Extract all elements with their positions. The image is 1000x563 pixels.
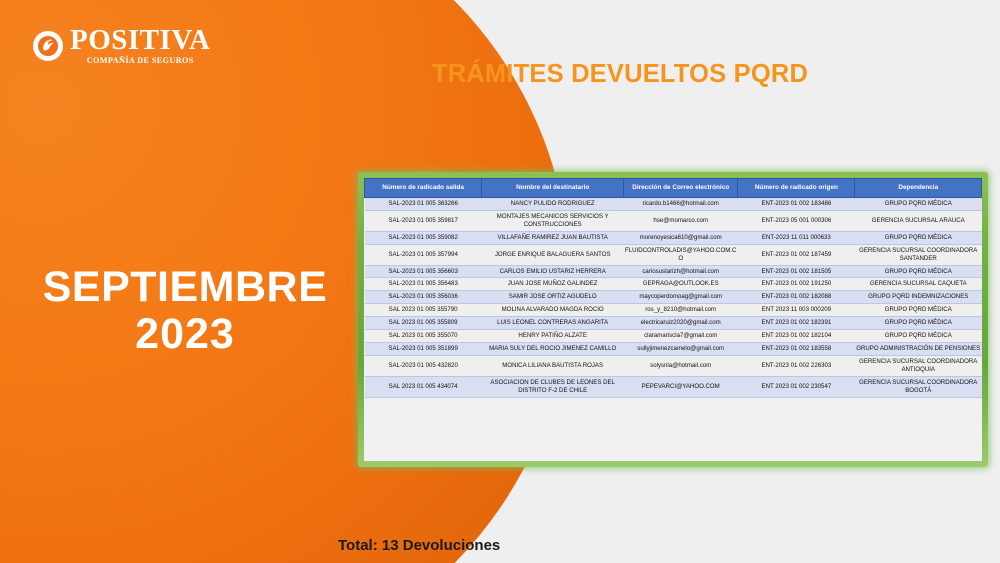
cell-destinatario: JUAN JOSE MUÑOZ GALINDEZ bbox=[482, 278, 624, 291]
logo-subtitle: COMPAÑÍA DE SEGUROS bbox=[70, 57, 210, 65]
slide-canvas: POSITIVA COMPAÑÍA DE SEGUROS SEPTIEMBRE … bbox=[0, 0, 1000, 563]
total-bar: Total: 13 Devoluciones bbox=[320, 532, 620, 558]
cell-dependencia: GRUPO PQRD MÉDICA bbox=[855, 265, 982, 278]
cell-correo: claramariscla7@gmail.com bbox=[624, 330, 738, 343]
table-row: SAL-2023 01 005 351899MARIA SULY DEL ROC… bbox=[365, 343, 982, 356]
cell-dependencia: GRUPO PQRD MÉDICA bbox=[855, 317, 982, 330]
cell-correo: PEPEVARCI@YAHOO.COM bbox=[624, 376, 738, 397]
column-header-radicado-origen: Número de radicado origen bbox=[738, 179, 855, 198]
cell-correo: sullyjimenezcamelo@gmail.com bbox=[624, 343, 738, 356]
period-block: SEPTIEMBRE 2023 bbox=[0, 265, 370, 360]
cell-radicado-salida: SAL-2023 01 005 356036 bbox=[365, 291, 482, 304]
cell-destinatario: SAMIR JOSE ORTIZ AGUDELO bbox=[482, 291, 624, 304]
cell-destinatario: CARLOS EMILIO USTARIZ HERRERA bbox=[482, 265, 624, 278]
table-row: SAL-2023 01 005 357994JORGE ENRIQUE BALA… bbox=[365, 244, 982, 265]
column-header-radicado-salida: Número de radicado salida bbox=[365, 179, 482, 198]
column-header-dependencia: Dependencia bbox=[855, 179, 982, 198]
cell-radicado-origen: ENT-2023 01 002 226303 bbox=[738, 355, 855, 376]
cell-correo: ros_y_8210@hotmail.com bbox=[624, 304, 738, 317]
logo-wordmark: POSITIVA COMPAÑÍA DE SEGUROS bbox=[70, 26, 210, 65]
column-header-correo: Dirección de Correo electrónico bbox=[624, 179, 738, 198]
positiva-logo: POSITIVA COMPAÑÍA DE SEGUROS bbox=[33, 26, 210, 65]
cell-radicado-origen: ENT-2023 01 002 183486 bbox=[738, 198, 855, 211]
table-row: SAL 2023 01 005 355070HENRY PATIÑO ALZAT… bbox=[365, 330, 982, 343]
returned-procedures-table: Número de radicado salida Nombre del des… bbox=[364, 178, 982, 398]
table-row: SAL-2023 01 005 356036SAMIR JOSE ORTIZ A… bbox=[365, 291, 982, 304]
table-header: Número de radicado salida Nombre del des… bbox=[365, 179, 982, 198]
cell-radicado-origen: ENT-2023 01 002 183558 bbox=[738, 343, 855, 356]
table-row: SAL 2023 01 005 434074ASOCIACION DE CLUB… bbox=[365, 376, 982, 397]
cell-radicado-salida: SAL-2023 01 005 359082 bbox=[365, 231, 482, 244]
cell-dependencia: GERENCIA SUCURSAL CAQUETA bbox=[855, 278, 982, 291]
cell-radicado-origen: ENT-2023 01 002 182088 bbox=[738, 291, 855, 304]
cell-radicado-origen: ENT 2023 11 003 000209 bbox=[738, 304, 855, 317]
cell-correo: maycoperdomoag@gmail.com bbox=[624, 291, 738, 304]
cell-radicado-origen: ENT 2023 01 002 182104 bbox=[738, 330, 855, 343]
cell-radicado-origen: ENT 2023 01 002 230547 bbox=[738, 376, 855, 397]
cell-radicado-salida: SAL-2023 01 005 432820 bbox=[365, 355, 482, 376]
cell-radicado-origen: ENT-2023 11 011 000633 bbox=[738, 231, 855, 244]
page-title: TRÁMITES DEVUELTOS PQRD bbox=[420, 60, 820, 89]
cell-dependencia: GERENCIA SUCURSAL COORDINADORA SANTANDER bbox=[855, 244, 982, 265]
column-header-destinatario: Nombre del destinatario bbox=[482, 179, 624, 198]
cell-radicado-salida: SAL 2023 01 005 355809 bbox=[365, 317, 482, 330]
cell-radicado-salida: SAL 2023 01 005 355790 bbox=[365, 304, 482, 317]
cell-correo: FLUIDCONTROLADIS@YAHOO.COM.CO bbox=[624, 244, 738, 265]
cell-radicado-salida: SAL 2023 01 005 355070 bbox=[365, 330, 482, 343]
cell-radicado-origen: ENT-2023 01 002 191250 bbox=[738, 278, 855, 291]
cell-radicado-salida: SAL-2023 01 005 356483 bbox=[365, 278, 482, 291]
globe-icon bbox=[33, 31, 63, 61]
cell-destinatario: ASOCIACION DE CLUBES DE LEONES DEL DISTR… bbox=[482, 376, 624, 397]
cell-radicado-origen: ENT 2023 01 002 182391 bbox=[738, 317, 855, 330]
table-row: SAL 2023 01 005 355790MOLINA ALVARADO MA… bbox=[365, 304, 982, 317]
table-body: SAL-2023 01 005 363266NANCY PULIDO RODRI… bbox=[365, 198, 982, 398]
cell-destinatario: HENRY PATIÑO ALZATE bbox=[482, 330, 624, 343]
table-row: SAL-2023 01 005 363266NANCY PULIDO RODRI… bbox=[365, 198, 982, 211]
table-row: SAL-2023 01 005 356603CARLOS EMILIO USTA… bbox=[365, 265, 982, 278]
period-year: 2023 bbox=[0, 310, 370, 359]
cell-dependencia: GERENCIA SUCURSAL COORDINADORA BOGOTÁ bbox=[855, 376, 982, 397]
cell-dependencia: GRUPO ADMINISTRACIÓN DE PENSIONES bbox=[855, 343, 982, 356]
table-row: SAL-2023 01 005 359082VILLAFAÑE RAMIREZ … bbox=[365, 231, 982, 244]
cell-dependencia: GRUPO PQRD MÉDICA bbox=[855, 198, 982, 211]
cell-radicado-origen: ENT-2023 01 002 187459 bbox=[738, 244, 855, 265]
table-header-row: Número de radicado salida Nombre del des… bbox=[365, 179, 982, 198]
cell-destinatario: NANCY PULIDO RODRIGUEZ bbox=[482, 198, 624, 211]
cell-correo: electricaruiz2020@gmail.com bbox=[624, 317, 738, 330]
cell-dependencia: GRUPO PQRD INDEMNIZACIONES bbox=[855, 291, 982, 304]
cell-dependencia: GRUPO PQRD MÉDICA bbox=[855, 304, 982, 317]
cell-destinatario: MOLINA ALVARADO MAGDA ROCIO bbox=[482, 304, 624, 317]
cell-destinatario: JORGE ENRIQUE BALAGUERA SANTOS bbox=[482, 244, 624, 265]
cell-dependencia: GRUPO PQRD MÉDICA bbox=[855, 231, 982, 244]
cell-radicado-salida: SAL 2023 01 005 434074 bbox=[365, 376, 482, 397]
cell-correo: carlosustarizh@hotmail.com bbox=[624, 265, 738, 278]
cell-dependencia: GRUPO PQRD MÉDICA bbox=[855, 330, 982, 343]
table-row: SAL 2023 01 005 355809LUIS LEONEL CONTRE… bbox=[365, 317, 982, 330]
cell-destinatario: VILLAFAÑE RAMIREZ JUAN BAUTISTA bbox=[482, 231, 624, 244]
cell-correo: ricardo.b1466@hotmail.com bbox=[624, 198, 738, 211]
cell-destinatario: LUIS LEONEL CONTRERAS ANGARITA bbox=[482, 317, 624, 330]
table-scroll-area: Número de radicado salida Nombre del des… bbox=[364, 178, 982, 461]
cell-destinatario: MONICA LILIANA BAUTISTA ROJAS bbox=[482, 355, 624, 376]
cell-destinatario: MONTAJES MECANICOS SERVICIOS Y CONSTRUCC… bbox=[482, 210, 624, 231]
cell-dependencia: GERENCIA SUCURSAL ARAUCA bbox=[855, 210, 982, 231]
table-row: SAL-2023 01 005 356483JUAN JOSE MUÑOZ GA… bbox=[365, 278, 982, 291]
table-row: SAL-2023 01 005 359817MONTAJES MECANICOS… bbox=[365, 210, 982, 231]
cell-destinatario: MARIA SULY DEL ROCIO JIMENEZ CAMILLO bbox=[482, 343, 624, 356]
table-row: SAL-2023 01 005 432820MONICA LILIANA BAU… bbox=[365, 355, 982, 376]
cell-radicado-origen: ENT-2023 01 002 181505 bbox=[738, 265, 855, 278]
cell-radicado-origen: ENT-2023 05 001 000306 bbox=[738, 210, 855, 231]
cell-correo: morenoyesica610@gmail.com bbox=[624, 231, 738, 244]
total-devoluciones-label: Total: 13 Devoluciones bbox=[320, 537, 500, 554]
period-month: SEPTIEMBRE bbox=[0, 265, 370, 310]
cell-dependencia: GERENCIA SUCURSAL COORDINADORA ANTIOQUIA bbox=[855, 355, 982, 376]
logo-name: POSITIVA bbox=[70, 26, 210, 55]
table-frame: Número de radicado salida Nombre del des… bbox=[358, 172, 988, 467]
cell-radicado-salida: SAL-2023 01 005 363266 bbox=[365, 198, 482, 211]
cell-correo: hse@momarco.com bbox=[624, 210, 738, 231]
cell-radicado-salida: SAL-2023 01 005 351899 bbox=[365, 343, 482, 356]
cell-correo: GEPRAGA@OUTLOOK.ES bbox=[624, 278, 738, 291]
cell-radicado-salida: SAL-2023 01 005 356603 bbox=[365, 265, 482, 278]
cell-radicado-salida: SAL-2023 01 005 359817 bbox=[365, 210, 482, 231]
cell-radicado-salida: SAL-2023 01 005 357994 bbox=[365, 244, 482, 265]
cell-correo: solysnla@hotmail.com bbox=[624, 355, 738, 376]
